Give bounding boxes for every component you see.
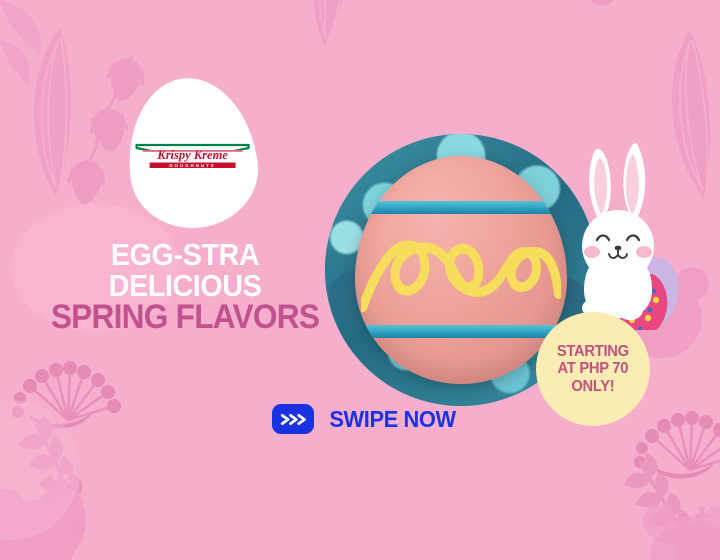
headline-line-2: DELICIOUS	[13, 271, 357, 302]
blue-stripe-top	[355, 201, 567, 214]
page-title: EGG-STRA DELICIOUS SPRING FLAVORS	[0, 240, 370, 335]
easter-bunny-character	[568, 140, 683, 330]
bunny-nose	[615, 246, 622, 251]
logo-tagline: DOUGHNUTS	[169, 162, 215, 167]
badge-line-1: STARTING	[557, 343, 629, 360]
bunny-cheek-right	[636, 246, 652, 258]
promo-poster: Krispy Kreme DOUGHNUTS EGG-STRA DELICIOU…	[0, 0, 720, 560]
badge-line-2: AT PHP 70	[558, 360, 629, 377]
krispy-kreme-logo: Krispy Kreme DOUGHNUTS	[135, 141, 251, 173]
bunny-paw-right	[617, 300, 643, 320]
bunny-cheek-left	[584, 246, 600, 258]
swipe-now-label[interactable]: SWIPE NOW	[329, 406, 455, 433]
krispy-kreme-egg-logo: Krispy Kreme DOUGHNUTS	[119, 71, 264, 235]
headline-line-1: EGG-STRA	[13, 240, 357, 271]
triple-chevron-right-icon[interactable]	[272, 404, 314, 434]
headline-line-3: SPRING FLAVORS	[13, 301, 357, 335]
swipe-now-button[interactable]: SWIPE NOW	[272, 404, 459, 434]
logo-wordmark: Krispy Kreme	[156, 147, 228, 161]
badge-line-3: ONLY!	[571, 378, 614, 395]
yellow-icing-loops	[361, 215, 560, 325]
blue-stripe-bottom	[355, 325, 567, 338]
status-badge: STARTING AT PHP 70 ONLY!	[536, 312, 650, 426]
